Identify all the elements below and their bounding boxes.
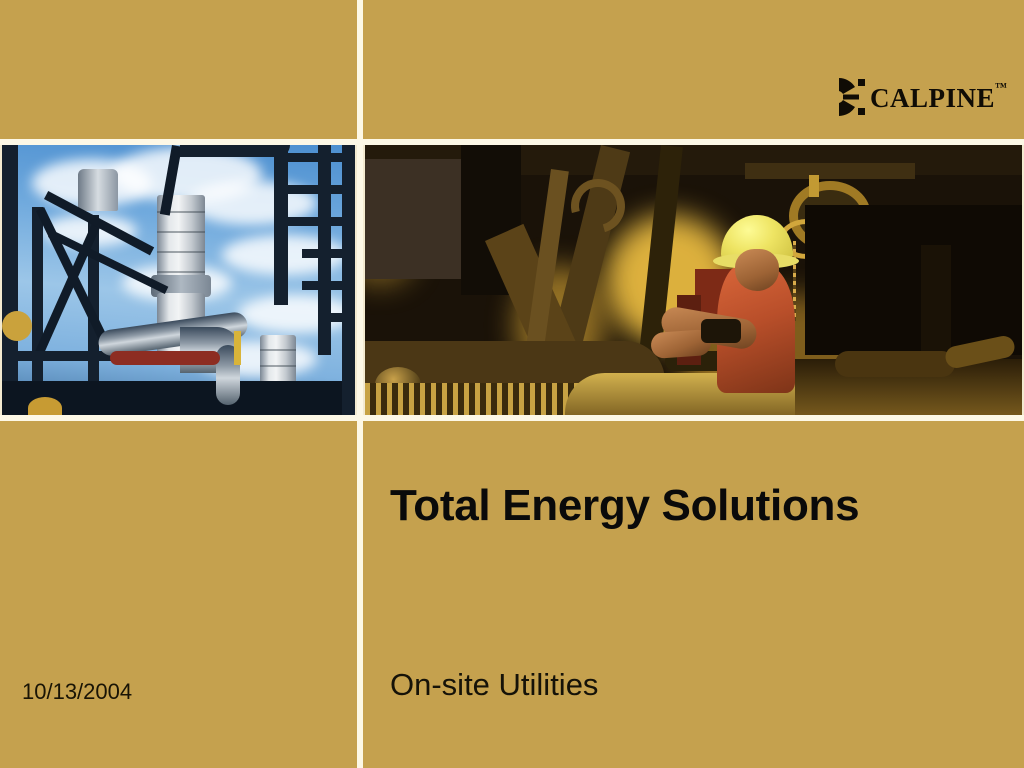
steel-beam (302, 281, 357, 290)
pipe-run (835, 351, 955, 377)
overhead-beam (745, 163, 915, 179)
plant-tank (78, 169, 118, 211)
divider-horizontal-bottom (0, 415, 1024, 421)
steel-column (274, 145, 288, 305)
steel-beam (302, 249, 357, 258)
steel-beam (318, 313, 357, 322)
turbine-blades (365, 383, 595, 417)
steel-beam (288, 185, 357, 194)
steel-beam (288, 217, 357, 226)
steel-column (2, 145, 18, 417)
trademark-symbol: ™ (995, 80, 1007, 95)
hand-tool (701, 319, 741, 343)
turbine-maintenance-photo (363, 143, 1024, 417)
divider-vertical (357, 0, 363, 768)
calpine-logo: CALPINE ™ (822, 74, 987, 120)
divider-horizontal-top (0, 139, 1024, 145)
slide-title: Total Energy Solutions (390, 482, 990, 530)
hoist-mount (809, 175, 819, 197)
calpine-c-mark-icon (822, 76, 866, 118)
lifting-hook (561, 169, 635, 243)
worker-face (735, 249, 779, 291)
slide-date: 10/13/2004 (22, 679, 132, 705)
slide-subtitle: On-site Utilities (390, 668, 950, 702)
yellow-equipment (28, 397, 62, 417)
power-plant-photo (0, 143, 357, 417)
yellow-equipment (2, 311, 32, 341)
yellow-marker (234, 331, 241, 365)
calpine-wordmark: CALPINE (870, 85, 995, 112)
dark-machinery (805, 205, 1024, 355)
red-pipe (110, 351, 220, 365)
steel-beam (288, 153, 357, 162)
presentation-slide: CALPINE ™ Total Energy Solutions On-site… (0, 0, 1024, 768)
dark-column (921, 245, 951, 365)
overhead-pipe (180, 145, 290, 157)
